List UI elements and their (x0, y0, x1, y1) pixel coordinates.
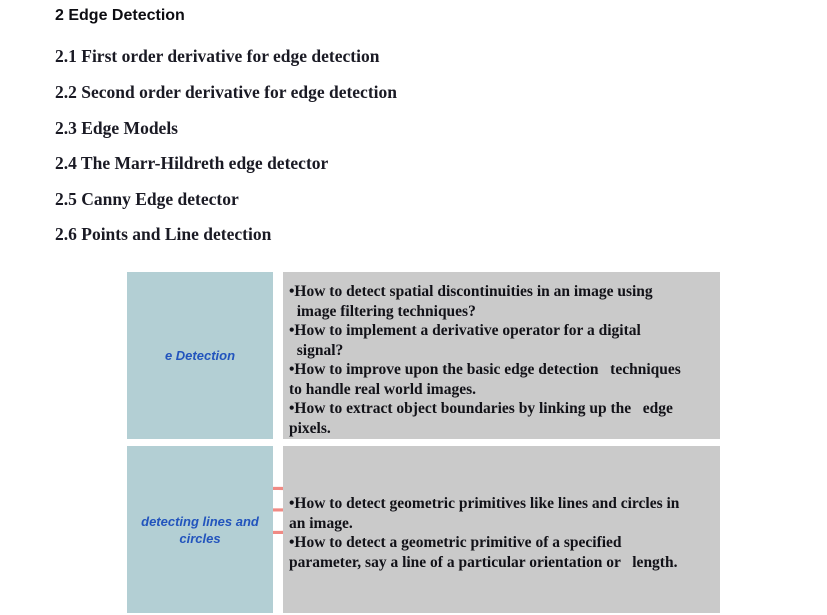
outline-item-2-6: 2.6 Points and Line detection (55, 223, 271, 245)
table-row-body-cell: •How to detect spatial discontinuities i… (283, 272, 720, 439)
bullet-line: an image. (289, 514, 712, 534)
bullet-line: parameter, say a line of a particular or… (289, 553, 712, 573)
outline-item-2-2: 2.2 Second order derivative for edge det… (55, 81, 397, 103)
table-row-label: e Detection (165, 347, 235, 364)
bullet-line: signal? (289, 341, 712, 361)
outline-item-2-1: 2.1 First order derivative for edge dete… (55, 45, 379, 67)
outline-item-2-5: 2.5 Canny Edge detector (55, 188, 239, 210)
table-row-label-cell: detecting lines and circles (127, 446, 273, 613)
outline-item-2-4: 2.4 The Marr-Hildreth edge detector (55, 152, 328, 174)
bullet-line: image filtering techniques? (289, 302, 712, 322)
bullet-line: •How to extract object boundaries by lin… (289, 399, 712, 419)
bullet-line: •How to detect a geometric primitive of … (289, 533, 712, 553)
bullet-line: •How to detect spatial discontinuities i… (289, 282, 712, 302)
table-row-label: detecting lines and circles (135, 513, 265, 547)
bullet-line: to handle real world images. (289, 380, 712, 400)
bullet-line: pixels. (289, 419, 712, 439)
table-row-label-cell: e Detection (127, 272, 273, 439)
bullet-line: •How to improve upon the basic edge dete… (289, 360, 712, 380)
table-row-body-cell: •How to detect geometric primitives like… (283, 446, 720, 613)
page-title: 2 Edge Detection (55, 6, 185, 26)
table-row: detecting lines and circles •How to dete… (127, 446, 720, 613)
bullet-line: •How to detect geometric primitives like… (289, 494, 712, 514)
bullet-line: •How to implement a derivative operator … (289, 321, 712, 341)
outline-item-2-3: 2.3 Edge Models (55, 117, 178, 139)
table-row: e Detection •How to detect spatial disco… (127, 272, 720, 439)
